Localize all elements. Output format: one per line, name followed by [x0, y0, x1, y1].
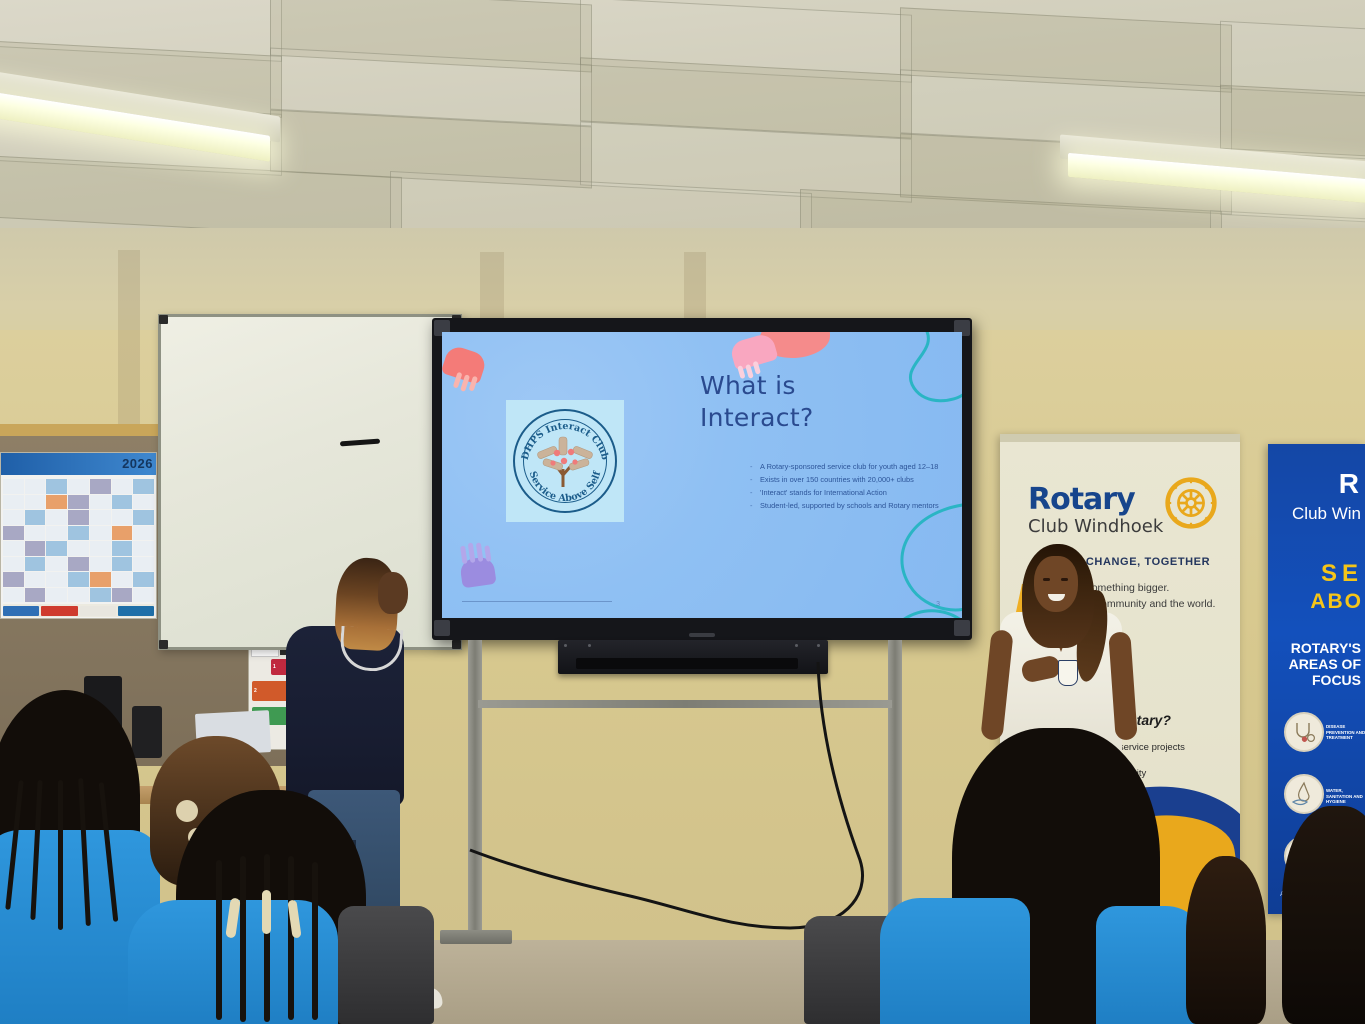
- presenter-right-face: [1034, 556, 1078, 612]
- calendar-cell: [133, 495, 154, 510]
- calendar-cell: [68, 510, 89, 525]
- blue-banner-motto-2: ABO: [1310, 590, 1363, 614]
- calendar-cell: [25, 572, 46, 587]
- calendar-cell: [133, 557, 154, 572]
- interact-club-emblem: DHPS Interact Club Service Above Self: [513, 409, 617, 513]
- rotary-brand-text: Rotary: [1028, 482, 1135, 517]
- display-power-cable: [440, 660, 880, 950]
- calendar-cell: [25, 541, 46, 556]
- school-crest-badge: [1058, 660, 1078, 686]
- calendar-cell: [133, 541, 154, 556]
- flat-panel-display[interactable]: DHPS Interact Club Service Above Self: [432, 318, 972, 640]
- wall-column-right: [684, 252, 706, 322]
- calendar-cell: [112, 588, 133, 603]
- calendar-cell: [46, 479, 67, 494]
- hair-cuff: [176, 800, 198, 822]
- display-panel: DHPS Interact Club Service Above Self: [442, 332, 962, 618]
- wall-column-left: [118, 250, 140, 450]
- rotary-wheel-icon: [1164, 476, 1218, 530]
- calendar-cell: [133, 588, 154, 603]
- calendar-cell: [3, 572, 24, 587]
- slide-footer-rule: [462, 601, 612, 602]
- calendar-cell: [46, 526, 67, 541]
- slide-bullet-2: Exists in over 150 countries with 20,000…: [750, 474, 962, 486]
- calendar-cell: [90, 557, 111, 572]
- calendar-cell: [46, 588, 67, 603]
- blue-banner-club: Club Win: [1292, 504, 1361, 524]
- slide-bullet-3: 'Interact' stands for International Acti…: [750, 487, 962, 499]
- calendar-cell: [90, 510, 111, 525]
- display-brand-logo: [689, 633, 715, 637]
- calendar-cell: [25, 588, 46, 603]
- slide-bullet-4: Student-led, supported by schools and Ro…: [750, 500, 962, 512]
- calendar-cell: [25, 510, 46, 525]
- desktop-speaker: [132, 706, 162, 758]
- presentation-slide: DHPS Interact Club Service Above Self: [442, 332, 962, 618]
- slide-title: What is Interact?: [700, 370, 930, 434]
- calendar-cell: [133, 479, 154, 494]
- calendar-cell: [90, 572, 111, 587]
- focus-label-disease-prevention: DISEASE PREVENTION AND TREATMENT: [1326, 724, 1365, 741]
- calendar-cell: [112, 479, 133, 494]
- calendar-cell: [133, 526, 154, 541]
- calendar-cell: [112, 541, 133, 556]
- calendar-cell: [25, 479, 46, 494]
- slide-bullet-list: A Rotary-sponsored service club for yout…: [710, 461, 962, 513]
- slide-title-line2: Interact?: [700, 402, 930, 434]
- calendar-cell: [3, 479, 24, 494]
- calendar-cell: [90, 495, 111, 510]
- calendar-cell: [112, 526, 133, 541]
- whiteboard: [158, 314, 462, 650]
- calendar-cell: [46, 557, 67, 572]
- calendar-cell: [3, 588, 24, 603]
- calendar-cell: [112, 557, 133, 572]
- calendar-cell: [133, 510, 154, 525]
- slide-page-number: 3: [936, 601, 940, 608]
- hair-ornament-2: [262, 890, 271, 934]
- calendar-cell: [46, 510, 67, 525]
- emblem-artwork: DHPS Interact Club Service Above Self: [513, 409, 617, 513]
- calendar-cell: [68, 572, 89, 587]
- calendar-cell: [90, 588, 111, 603]
- calendar-grid: [3, 479, 154, 602]
- calendar-cell: [3, 557, 24, 572]
- calendar-cell: [25, 526, 46, 541]
- classroom-presentation-photo: 2026 1 2 3 4: [0, 0, 1365, 1024]
- calendar-cell: [68, 495, 89, 510]
- calendar-cell: [68, 557, 89, 572]
- calendar-cell: [46, 495, 67, 510]
- slide-bullet-1: A Rotary-sponsored service club for yout…: [750, 461, 962, 473]
- calendar-cell: [3, 541, 24, 556]
- calendar-cell: [133, 572, 154, 587]
- calendar-cell: [68, 479, 89, 494]
- interact-club-logo-card: DHPS Interact Club Service Above Self: [506, 400, 624, 522]
- calendar-cell: [112, 495, 133, 510]
- calendar-cell: [25, 495, 46, 510]
- decor-hand-pink-left: [442, 344, 494, 400]
- wall-calendar-poster: 2026: [0, 452, 157, 619]
- focus-label-water-sanitation: WATER, SANITATION AND HYGIENE: [1326, 788, 1365, 805]
- calendar-year: 2026: [122, 456, 153, 471]
- decor-hand-purple: [453, 541, 503, 591]
- presenter-left-face: [378, 572, 408, 614]
- decor-teal-curve-bottom: [802, 498, 962, 618]
- calendar-cell: [3, 495, 24, 510]
- calendar-cell: [68, 541, 89, 556]
- chair-left: [338, 906, 434, 1024]
- slide-title-line1: What is: [700, 370, 930, 402]
- calendar-cell: [68, 526, 89, 541]
- calendar-cell: [112, 510, 133, 525]
- banner-top-rail: [1000, 434, 1240, 442]
- calendar-cell: [112, 572, 133, 587]
- calendar-cell: [90, 479, 111, 494]
- calendar-cell: [68, 588, 89, 603]
- calendar-sponsor-logos: [3, 604, 154, 617]
- rotary-club-text: Club Windhoek: [1028, 516, 1163, 537]
- calendar-cell: [90, 526, 111, 541]
- calendar-cell: [46, 572, 67, 587]
- calendar-cell: [90, 541, 111, 556]
- focus-icon-disease-prevention: [1284, 712, 1324, 752]
- blue-banner-brand: R: [1339, 468, 1359, 500]
- blue-banner-motto-1: SE: [1321, 560, 1363, 588]
- blue-banner-focus-heading: ROTARY'SAREAS OFFOCUS: [1289, 640, 1361, 688]
- calendar-cell: [25, 557, 46, 572]
- calendar-cell: [46, 541, 67, 556]
- calendar-cell: [3, 510, 24, 525]
- calendar-cell: [3, 526, 24, 541]
- display-stand-post-right: [888, 640, 902, 940]
